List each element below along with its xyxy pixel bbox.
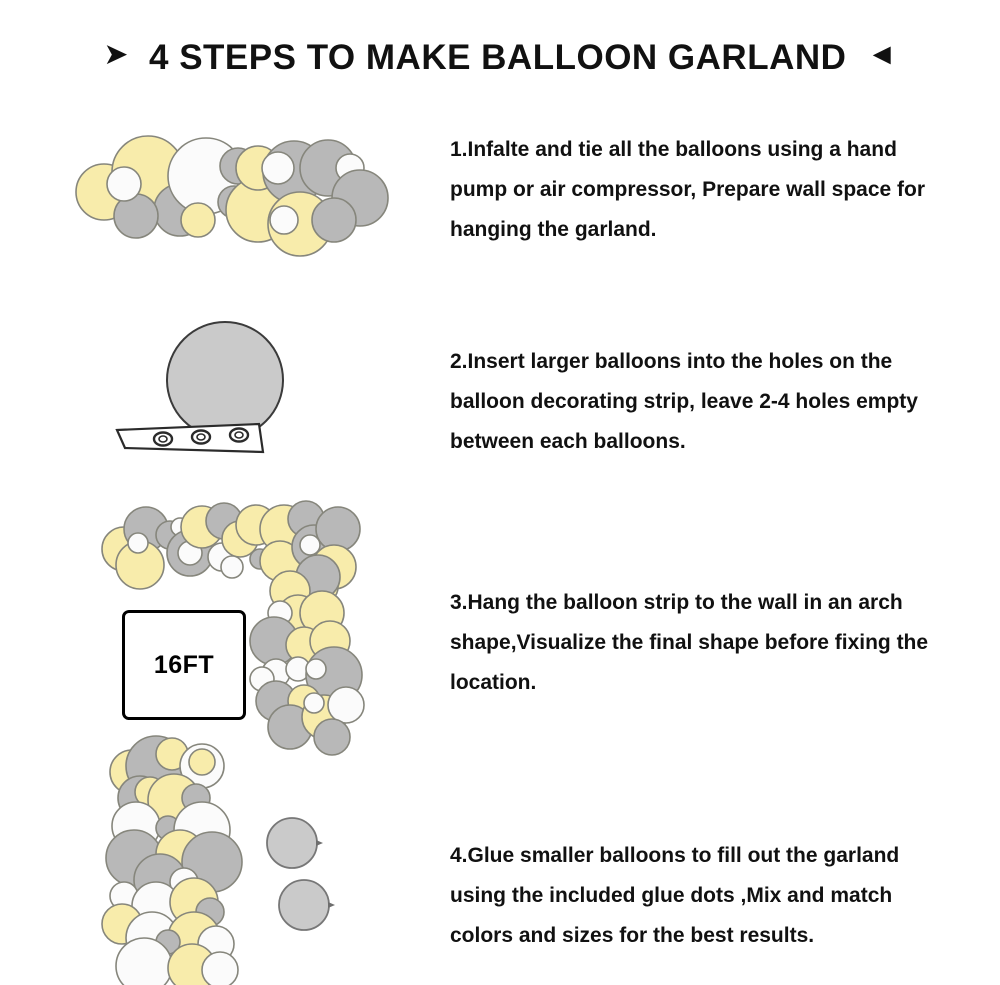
step-3-description: 3.Hang the balloon strip to the wall in …: [450, 583, 950, 703]
measurement-box: 16FT: [122, 610, 246, 720]
step-row-4: 4.Glue smaller balloons to fill out the …: [0, 740, 1000, 975]
figure-balloon-column-with-loose-balloons: [98, 740, 388, 985]
arrow-left-icon: ◄: [867, 38, 897, 71]
page-title-text: 4 STEPS TO MAKE BALLOON GARLAND: [149, 38, 846, 77]
step-1-description: 1.Infalte and tie all the balloons using…: [450, 130, 950, 250]
figure-balloon-arch-garland: 16FT: [98, 505, 388, 740]
step-2-description: 2.Insert larger balloons into the holes …: [450, 342, 950, 462]
step-row-2: 2.Insert larger balloons into the holes …: [0, 310, 1000, 490]
step-4-description: 4.Glue smaller balloons to fill out the …: [450, 836, 950, 956]
step-row-1: 1.Infalte and tie all the balloons using…: [0, 112, 1000, 272]
large-balloon: [167, 322, 283, 438]
figure-balloon-with-decorating-strip: [105, 318, 355, 483]
page-title: ➤ 4 STEPS TO MAKE BALLOON GARLAND ◄: [0, 38, 1000, 78]
figure-balloon-cluster-horizontal: [62, 124, 402, 254]
measurement-label: 16FT: [154, 651, 214, 680]
step-row-3: 16FT 3.Hang the balloon strip to the wal…: [0, 505, 1000, 740]
loose-balloon-2: [279, 880, 335, 930]
loose-balloon-1: [267, 818, 323, 868]
arrow-right-icon: ➤: [103, 38, 128, 71]
